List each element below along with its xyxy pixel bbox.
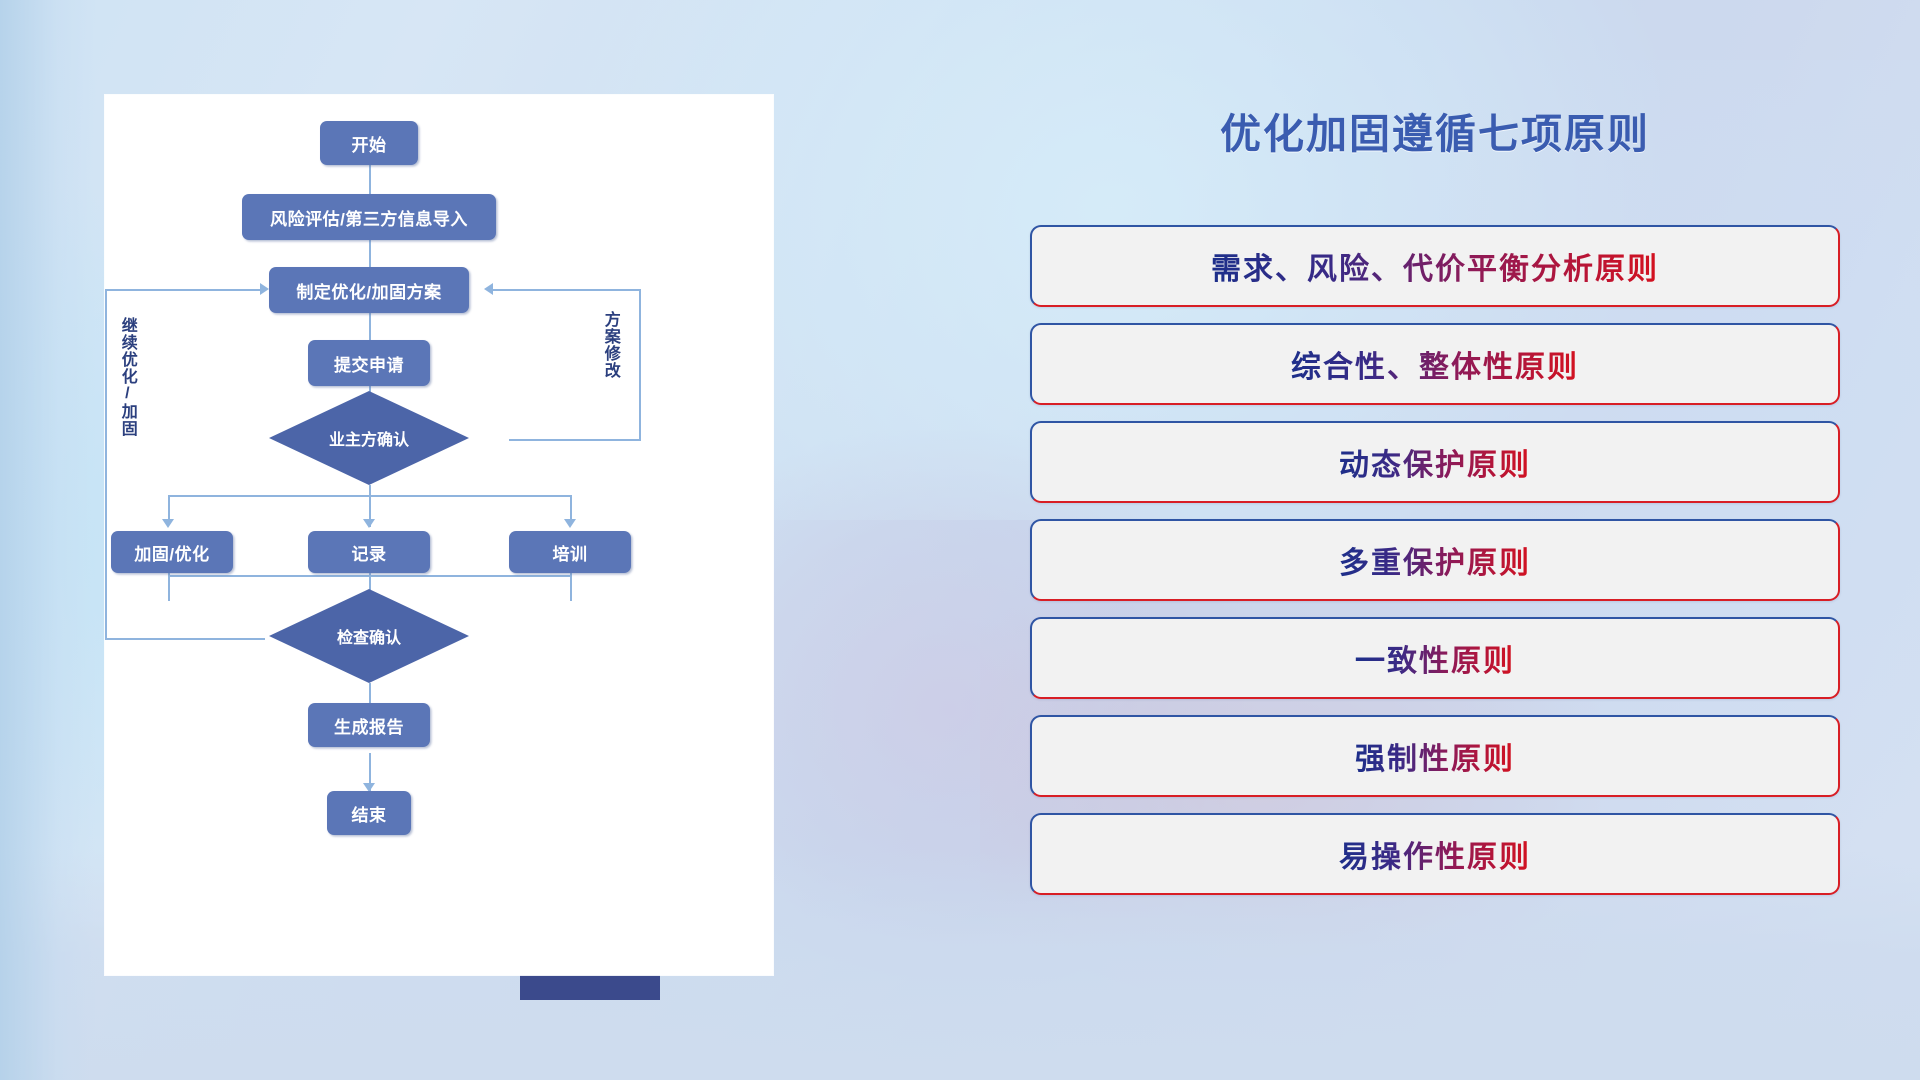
principle-card-label: 多重保护原则 (1339, 538, 1531, 582)
principle-card-label: 综合性、整体性原则 (1291, 342, 1579, 386)
arrowhead-right-loop (484, 283, 493, 295)
connector-branch-bus (168, 495, 572, 497)
principle-card[interactable]: 多重保护原则 (1030, 519, 1840, 601)
principle-card-label: 动态保护原则 (1339, 440, 1531, 484)
flow-edge-label-plan-revision: 方案修改 (601, 311, 618, 379)
panel-title: 优化加固遵循七项原则 (1030, 100, 1840, 160)
principle-card[interactable]: 综合性、整体性原则 (1030, 323, 1840, 405)
arrowhead-branch-left (162, 519, 174, 528)
principle-card-label: 需求、风险、代价平衡分析原则 (1211, 244, 1659, 288)
connector-right-loop-side (639, 289, 641, 441)
principle-card[interactable]: 动态保护原则 (1030, 421, 1840, 503)
flowchart-board: 开始 风险评估/第三方信息导入 制定优化/加固方案 提交申请 业主方确认 加固/… (105, 95, 773, 975)
flow-node-record[interactable]: 记录 (308, 531, 430, 573)
principle-card[interactable]: 需求、风险、代价平衡分析原则 (1030, 225, 1840, 307)
flowchart: 开始 风险评估/第三方信息导入 制定优化/加固方案 提交申请 业主方确认 加固/… (105, 95, 773, 975)
flow-node-risk-assessment[interactable]: 风险评估/第三方信息导入 (242, 194, 496, 240)
flow-node-risk-assessment-label: 风险评估/第三方信息导入 (270, 205, 468, 230)
flow-node-training-label: 培训 (553, 540, 588, 565)
arrowhead-branch-right (564, 519, 576, 528)
flow-node-reinforce-label: 加固/优化 (134, 540, 209, 565)
flow-node-end[interactable]: 结束 (327, 791, 411, 835)
principle-card-label: 一致性原则 (1355, 636, 1515, 680)
flow-node-generate-report[interactable]: 生成报告 (308, 703, 430, 747)
flow-node-owner-confirm-label: 业主方确认 (329, 426, 409, 450)
flow-node-check-confirm-label: 检查确认 (337, 624, 401, 648)
principle-card[interactable]: 强制性原则 (1030, 715, 1840, 797)
flow-node-record-label: 记录 (352, 540, 387, 565)
principles-panel: 优化加固遵循七项原则 需求、风险、代价平衡分析原则 综合性、整体性原则 动态保护… (1030, 100, 1840, 1000)
flow-node-check-confirm[interactable]: 检查确认 (269, 589, 469, 683)
principle-card[interactable]: 一致性原则 (1030, 617, 1840, 699)
flow-edge-label-continue-optimize: 继续优化/加固 (118, 317, 135, 437)
connector-left-loop-bottom (105, 638, 265, 640)
flow-node-submit-application[interactable]: 提交申请 (308, 340, 430, 386)
flow-node-training[interactable]: 培训 (509, 531, 631, 573)
background-left-edge (0, 0, 96, 1080)
flow-node-plan-label: 制定优化/加固方案 (296, 278, 441, 303)
principle-card-label: 强制性原则 (1355, 734, 1515, 778)
principle-card-label: 易操作性原则 (1339, 832, 1531, 876)
flow-node-plan[interactable]: 制定优化/加固方案 (269, 267, 469, 313)
connector-left-loop-top (105, 289, 265, 291)
arrowhead-branch-mid (363, 519, 375, 528)
principles-card-list: 需求、风险、代价平衡分析原则 综合性、整体性原则 动态保护原则 多重保护原则 一… (1030, 225, 1840, 911)
flow-node-end-label: 结束 (352, 801, 387, 826)
connector-left-loop-side (105, 289, 107, 639)
connector-right-loop-bottom (509, 439, 641, 441)
flow-node-start-label: 开始 (352, 131, 387, 156)
arrowhead-left-loop (260, 283, 269, 295)
flow-node-owner-confirm[interactable]: 业主方确认 (269, 391, 469, 485)
principle-card[interactable]: 易操作性原则 (1030, 813, 1840, 895)
flow-node-submit-application-label: 提交申请 (334, 351, 404, 376)
flow-node-generate-report-label: 生成报告 (334, 713, 404, 738)
connector-right-loop-top (493, 289, 641, 291)
flow-node-reinforce[interactable]: 加固/优化 (111, 531, 233, 573)
flow-node-start[interactable]: 开始 (320, 121, 418, 165)
